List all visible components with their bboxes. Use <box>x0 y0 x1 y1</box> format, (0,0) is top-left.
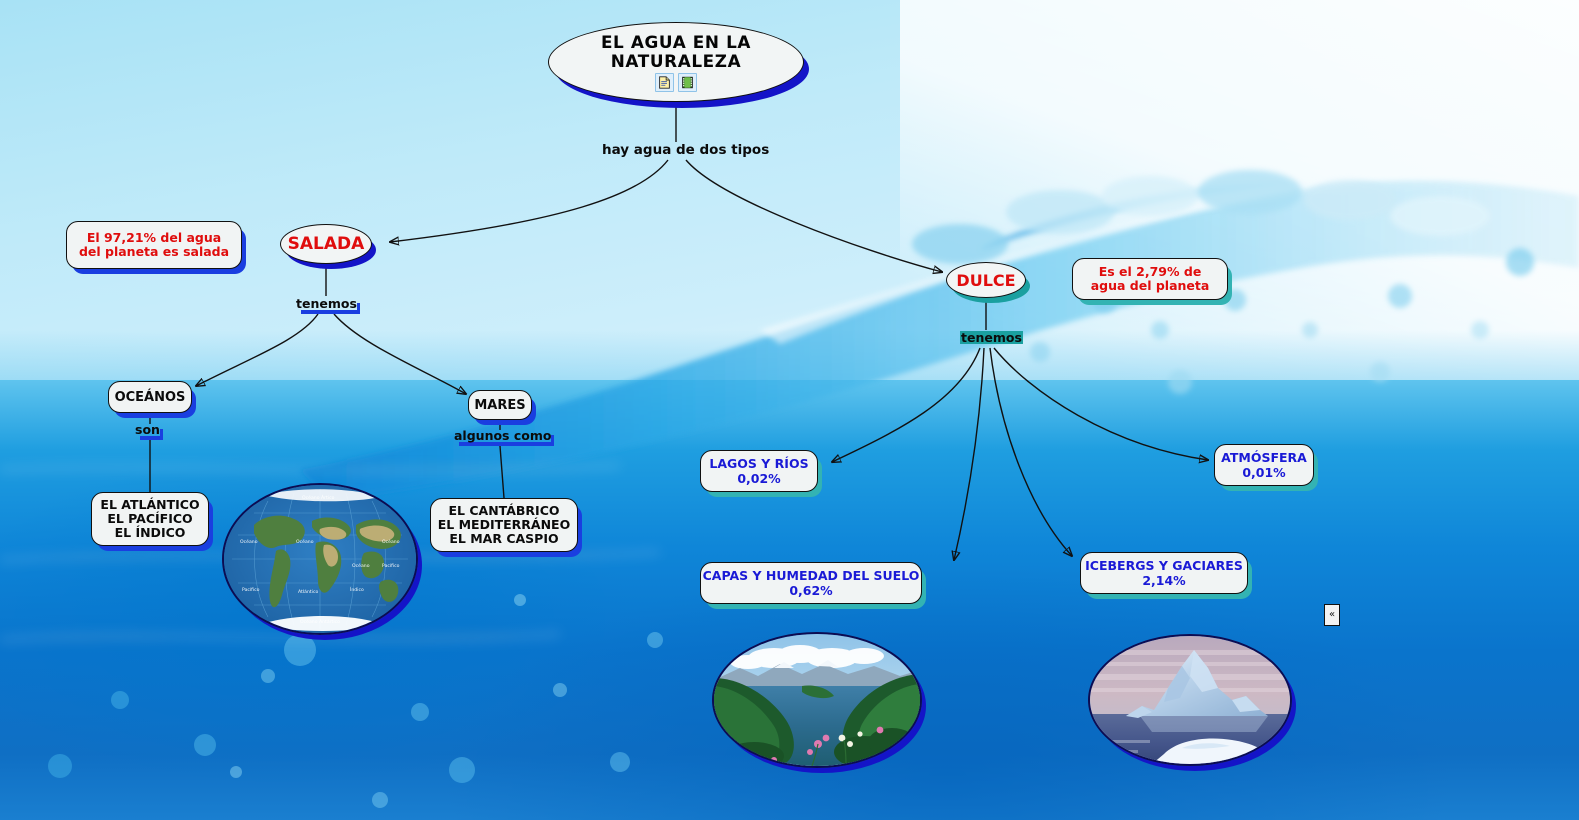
svg-text:Índico: Índico <box>350 586 364 593</box>
link-label-root: hay agua de dos tipos <box>602 143 769 157</box>
node-capas-humedad-suelo-value: 0,62% <box>789 583 832 598</box>
oceanos-detail-line-1: EL ATLÁNTICO <box>100 498 199 512</box>
node-capas-humedad-suelo-label: CAPAS Y HUMEDAD DEL SUELO <box>703 568 920 583</box>
node-icebergs-glaciares-value: 2,14% <box>1142 573 1185 588</box>
node-icebergs-glaciares[interactable]: ICEBERGS Y GACIARES 2,14% <box>1080 552 1248 594</box>
oceanos-detail-line-3: EL ÍNDICO <box>115 526 186 540</box>
dulce-note-box[interactable]: Es el 2,79% de agua del planeta <box>1072 258 1228 300</box>
node-capas-humedad-suelo[interactable]: CAPAS Y HUMEDAD DEL SUELO 0,62% <box>700 562 922 604</box>
svg-text:Océano: Océano <box>352 562 370 569</box>
svg-text:Océano Ártico: Océano Ártico <box>302 494 335 501</box>
svg-text:Pacífico: Pacífico <box>242 586 260 593</box>
note-document-icon[interactable] <box>655 73 674 92</box>
lake-valley-image[interactable] <box>712 632 922 768</box>
film-video-icon[interactable] <box>678 73 697 92</box>
link-label-mares-algunos: algunos como <box>454 429 551 442</box>
page-title: EL AGUA EN LA NATURALEZA <box>546 33 805 71</box>
oceanos-detail-box[interactable]: EL ATLÁNTICO EL PACÍFICO EL ÍNDICO <box>91 492 209 546</box>
svg-text:Océano: Océano <box>240 538 258 545</box>
mares-detail-line-2: EL MEDITERRÁNEO <box>438 518 570 532</box>
svg-text:Océano Antártico: Océano Antártico <box>300 618 340 625</box>
iceberg-image[interactable] <box>1088 634 1292 766</box>
panel-collapse-handle[interactable]: « <box>1324 604 1340 626</box>
oceanos-detail-line-2: EL PACÍFICO <box>107 512 192 526</box>
salada-note-text: El 97,21% del agua del planeta es salada <box>75 231 233 259</box>
mares-detail-box[interactable]: EL CANTÁBRICO EL MEDITERRÁNEO EL MAR CAS… <box>430 498 578 552</box>
node-oceanos-label: OCEÁNOS <box>115 390 186 405</box>
svg-text:Pacífico: Pacífico <box>382 562 400 569</box>
link-label-dulce-tenemos: tenemos <box>960 331 1023 344</box>
world-map-oceans-image[interactable]: Océano Ártico Océano Océano Océano Océan… <box>222 483 418 635</box>
node-lagos-rios[interactable]: LAGOS Y RÍOS 0,02% <box>700 450 818 492</box>
node-atmosfera-value: 0,01% <box>1242 465 1285 480</box>
node-mares[interactable]: MARES <box>468 390 532 420</box>
node-lagos-rios-label: LAGOS Y RÍOS <box>709 456 808 471</box>
salada-note-box[interactable]: El 97,21% del agua del planeta es salada <box>66 221 242 269</box>
link-label-oceanos-son: son <box>135 423 160 436</box>
node-icebergs-glaciares-label: ICEBERGS Y GACIARES <box>1085 558 1243 573</box>
node-oceanos[interactable]: OCEÁNOS <box>108 381 192 413</box>
link-label-salada-tenemos: tenemos <box>296 297 357 310</box>
title-icon-row <box>655 73 697 92</box>
svg-text:Océano: Océano <box>382 538 400 545</box>
node-salada-label: SALADA <box>288 234 365 254</box>
mares-detail-line-3: EL MAR CASPIO <box>449 532 558 546</box>
node-atmosfera[interactable]: ATMÓSFERA 0,01% <box>1214 444 1314 486</box>
node-atmosfera-label: ATMÓSFERA <box>1221 450 1307 465</box>
svg-text:Atlántico: Atlántico <box>298 588 318 595</box>
concept-map-canvas: « EL AGUA EN LA NATURALEZA <box>0 0 1579 820</box>
node-dulce-label: DULCE <box>956 271 1015 290</box>
node-salada[interactable]: SALADA <box>280 224 372 264</box>
node-lagos-rios-value: 0,02% <box>737 471 780 486</box>
node-dulce[interactable]: DULCE <box>946 262 1026 298</box>
title-node[interactable]: EL AGUA EN LA NATURALEZA <box>548 22 804 102</box>
dulce-note-text: Es el 2,79% de agua del planeta <box>1081 265 1219 293</box>
node-mares-label: MARES <box>474 398 525 413</box>
mares-detail-line-1: EL CANTÁBRICO <box>449 504 560 518</box>
svg-text:Océano: Océano <box>296 538 314 545</box>
